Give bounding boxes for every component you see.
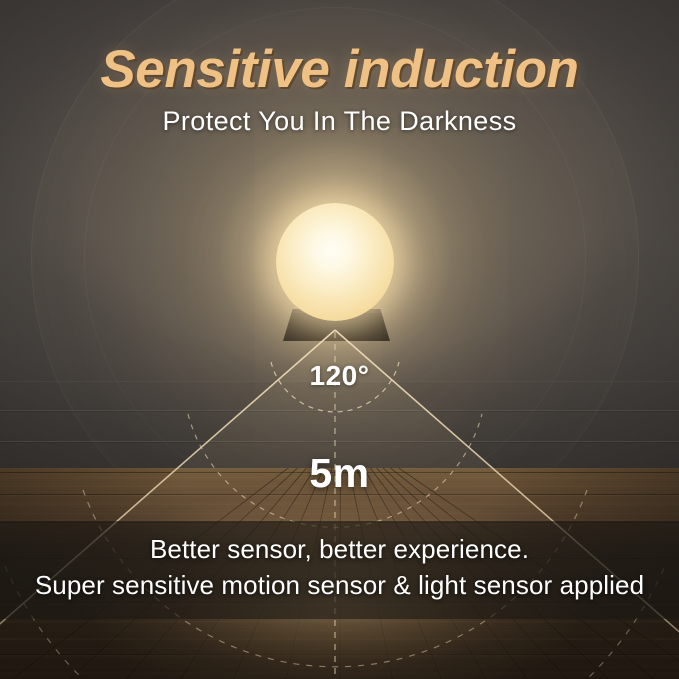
- footer-line-1: Better sensor, better experience.: [0, 534, 679, 565]
- footer-line-2: Super sensitive motion sensor & light se…: [0, 570, 679, 601]
- detection-range-label: 5m: [0, 450, 679, 497]
- page-title: Sensitive induction: [0, 39, 679, 100]
- page-subtitle: Protect You In The Darkness: [0, 106, 679, 137]
- product-marketing-image: Sensitive induction Protect You In The D…: [0, 0, 679, 679]
- detection-angle-label: 120°: [0, 360, 679, 392]
